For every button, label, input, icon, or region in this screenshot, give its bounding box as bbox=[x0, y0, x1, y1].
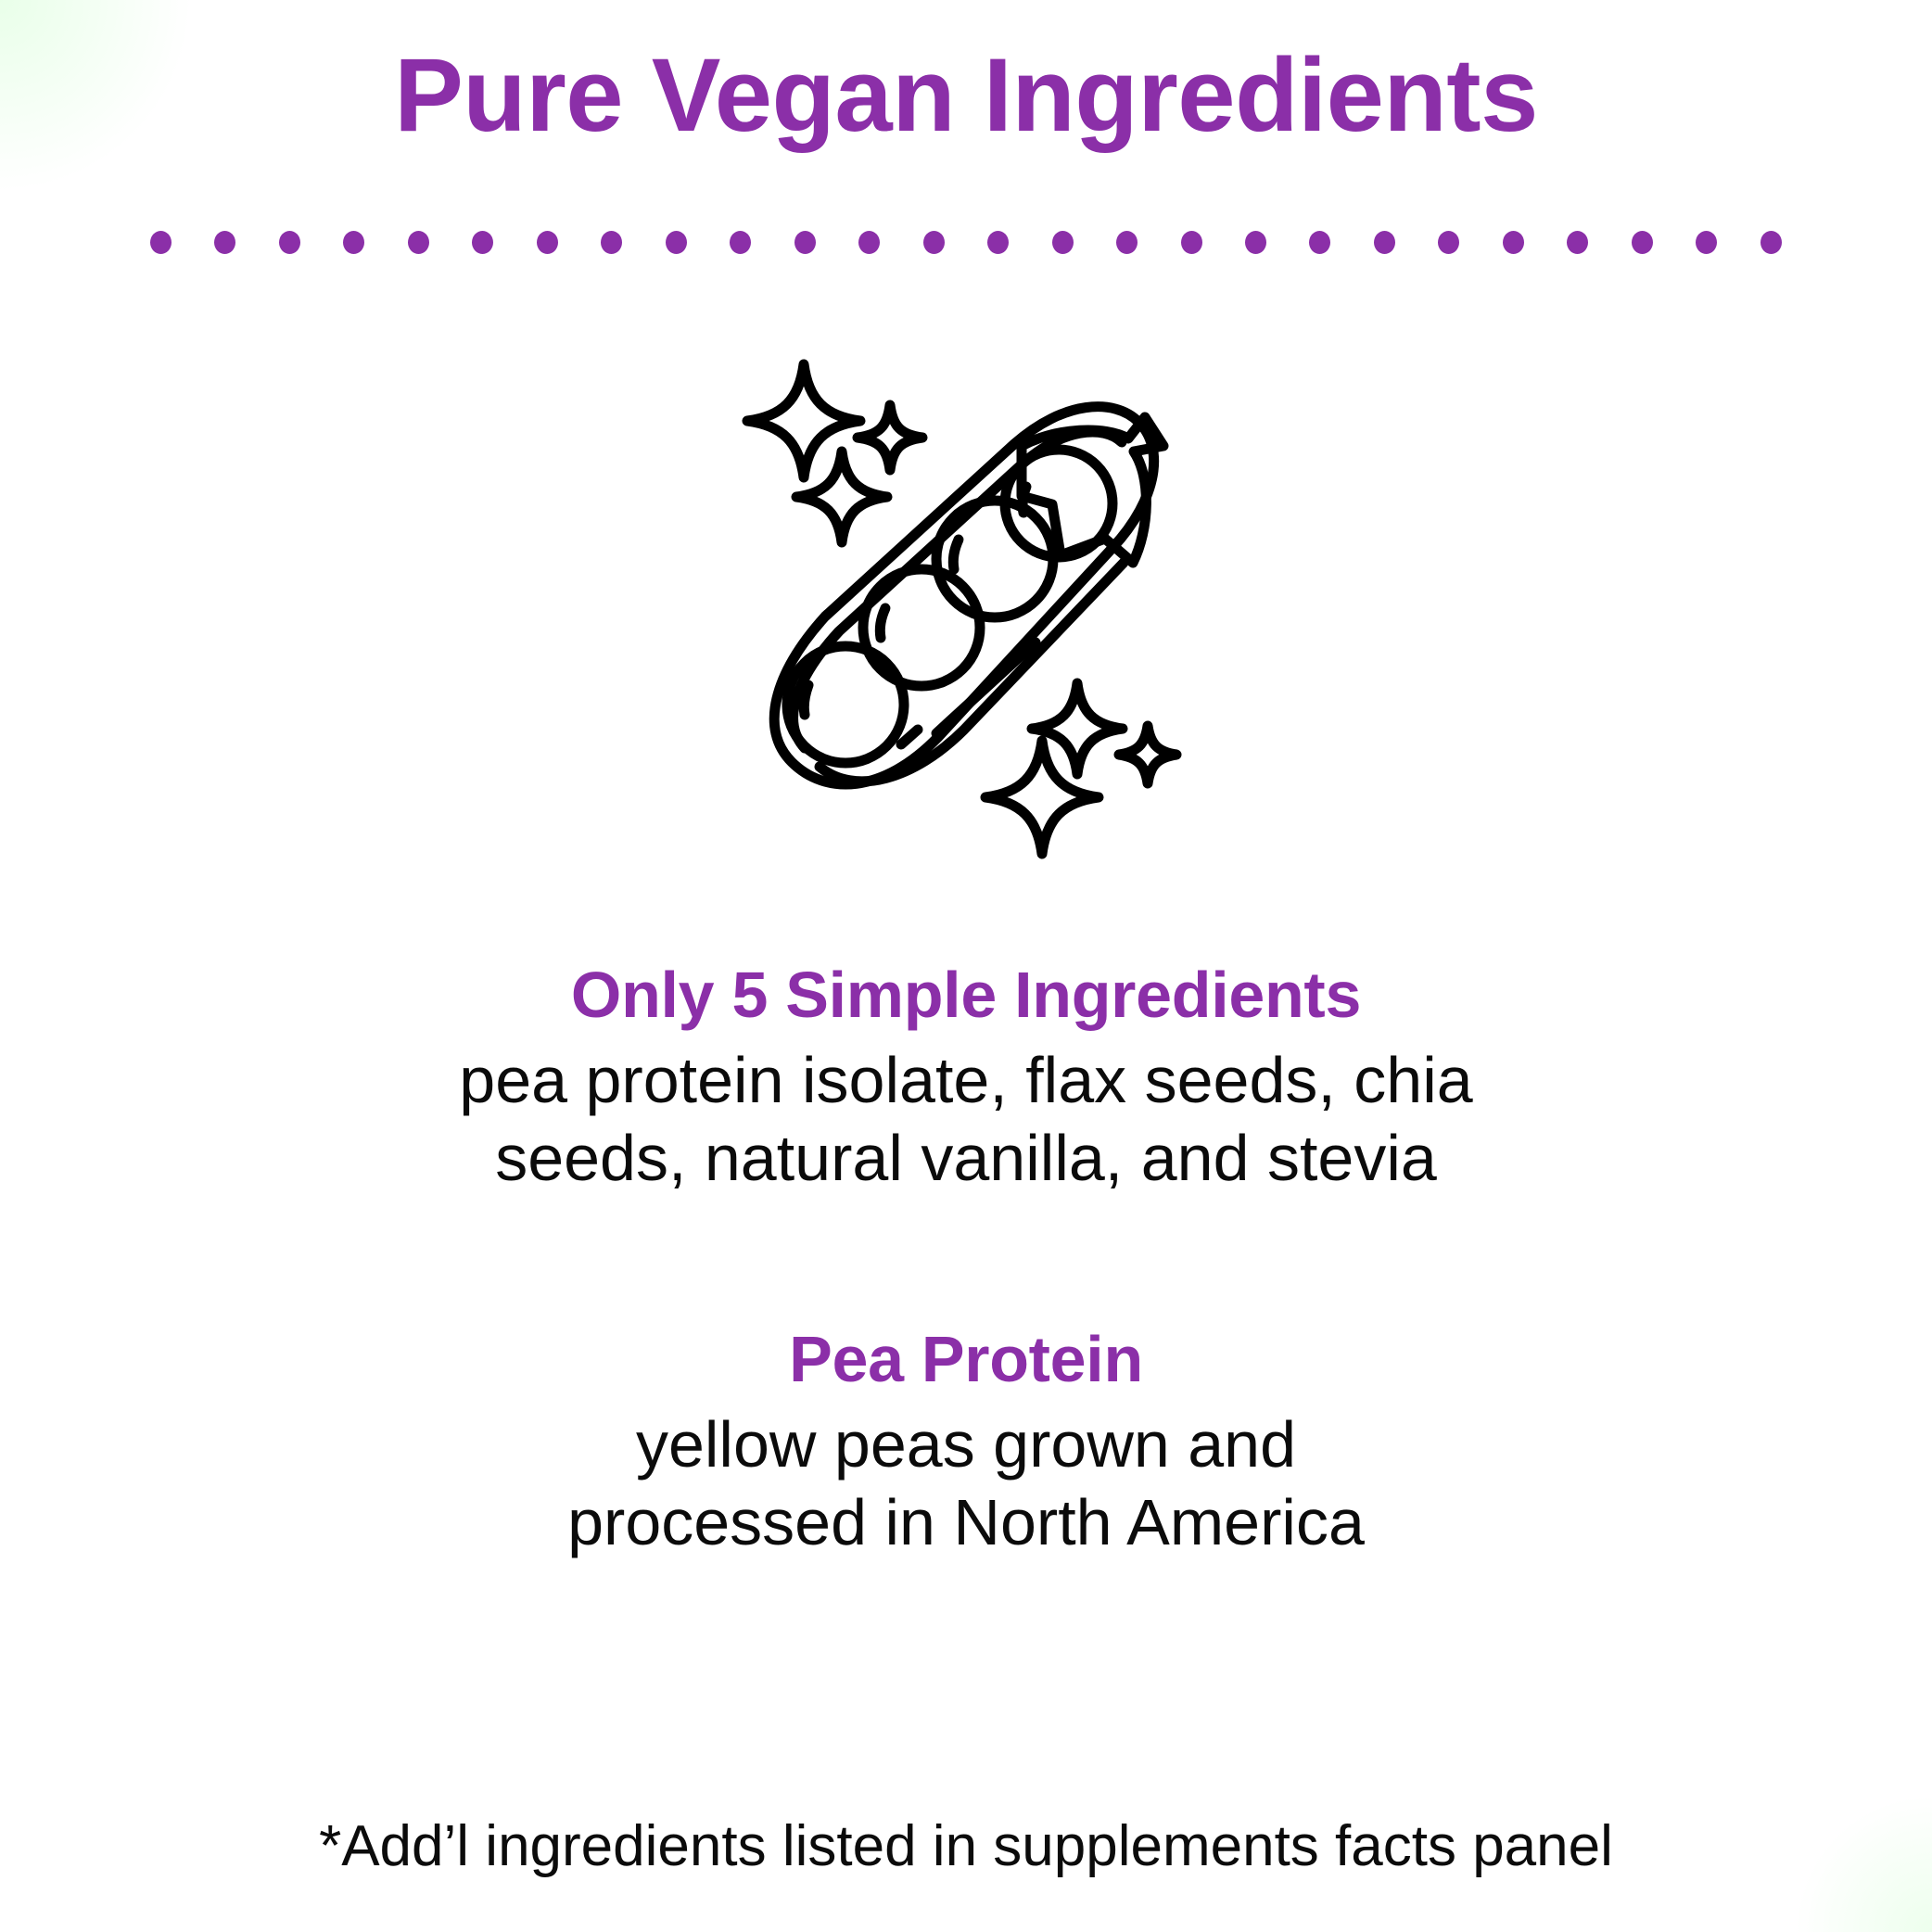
divider-dot bbox=[150, 231, 172, 254]
sparkle-group-top-left bbox=[747, 364, 922, 542]
divider-dot bbox=[214, 231, 235, 254]
section-body-pea-protein: yellow peas grown and processed in North… bbox=[0, 1405, 1932, 1561]
divider-dot bbox=[730, 231, 751, 254]
pea-highlight bbox=[880, 608, 885, 638]
divider-dot bbox=[472, 231, 493, 254]
body-line: processed in North America bbox=[0, 1483, 1932, 1561]
section-ingredients: Only 5 Simple Ingredients pea protein is… bbox=[0, 957, 1932, 1197]
divider-dot bbox=[1632, 231, 1653, 254]
divider-dot bbox=[343, 231, 364, 254]
divider-dot bbox=[1503, 231, 1524, 254]
divider-dot bbox=[1438, 231, 1459, 254]
divider-dot bbox=[1374, 231, 1395, 254]
divider-dot bbox=[1116, 231, 1138, 254]
sparkle-group-bottom-right bbox=[985, 683, 1176, 854]
divider-dot bbox=[1309, 231, 1330, 254]
divider-dot bbox=[1052, 231, 1074, 254]
divider-dot bbox=[1181, 231, 1202, 254]
section-heading-pea-protein: Pea Protein bbox=[0, 1321, 1932, 1398]
divider-dot bbox=[537, 231, 558, 254]
section-heading-ingredients: Only 5 Simple Ingredients bbox=[0, 957, 1932, 1034]
footnote-text: *Add’l ingredients listed in supplements… bbox=[0, 1812, 1932, 1881]
leaf-and-stem bbox=[1022, 417, 1163, 563]
divider-dot bbox=[1245, 231, 1266, 254]
divider-dot bbox=[279, 231, 300, 254]
divider-dot bbox=[408, 231, 429, 254]
divider-dot bbox=[601, 231, 622, 254]
sparkle-icon bbox=[858, 405, 922, 470]
divider-dot bbox=[794, 231, 816, 254]
divider-dot bbox=[923, 231, 945, 254]
page-title: Pure Vegan Ingredients bbox=[0, 37, 1932, 153]
body-line: yellow peas grown and bbox=[0, 1405, 1932, 1483]
divider-dot bbox=[1567, 231, 1588, 254]
sparkle-icon bbox=[1119, 726, 1176, 783]
divider-dot bbox=[1760, 231, 1782, 254]
section-body-ingredients: pea protein isolate, flax seeds, chia se… bbox=[0, 1041, 1932, 1197]
infographic-panel: Pure Vegan Ingredients bbox=[0, 0, 1932, 1932]
pea-pod-illustration bbox=[716, 348, 1235, 867]
section-pea-protein: Pea Protein yellow peas grown and proces… bbox=[0, 1321, 1932, 1561]
pea-highlight bbox=[804, 685, 808, 715]
dotted-divider bbox=[150, 230, 1782, 254]
pea-highlight bbox=[953, 540, 959, 569]
divider-dot bbox=[1696, 231, 1717, 254]
divider-dot bbox=[858, 231, 880, 254]
body-line: pea protein isolate, flax seeds, chia bbox=[0, 1041, 1932, 1119]
body-line: seeds, natural vanilla, and stevia bbox=[0, 1119, 1932, 1197]
divider-dot bbox=[987, 231, 1009, 254]
divider-dot bbox=[666, 231, 687, 254]
